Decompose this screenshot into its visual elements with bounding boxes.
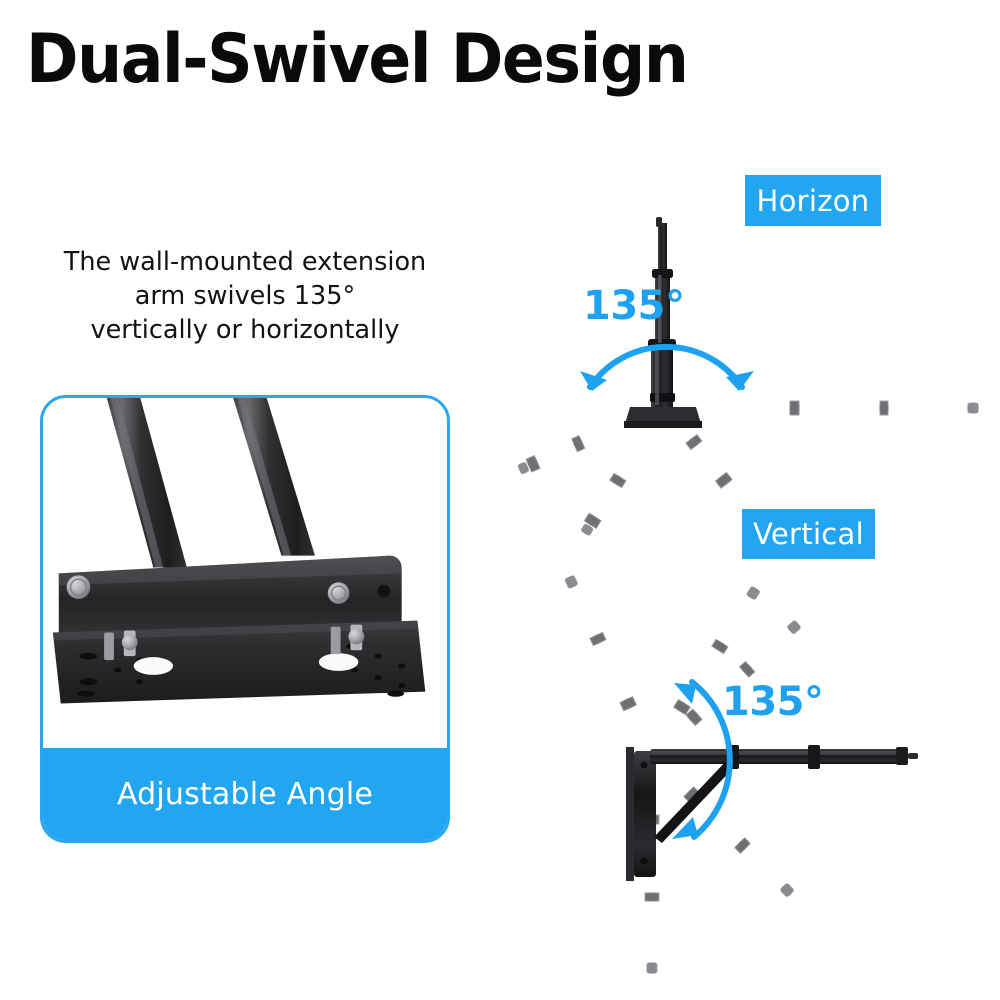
- vertical-angle-value: 135°: [722, 679, 824, 725]
- horizon-base-plate: [624, 407, 702, 428]
- bracket-tubes: [104, 398, 315, 567]
- vertical-wall-plate: [626, 747, 656, 881]
- product-photo-card: Adjustable Angle: [40, 395, 450, 843]
- vertical-ghost-arms: [563, 574, 803, 973]
- product-bracket-photo: [43, 398, 447, 758]
- description-line-1: The wall-mounted extension: [20, 246, 470, 280]
- description-text: The wall-mounted extension arm swivels 1…: [20, 246, 470, 348]
- horizon-angle-value: 135°: [583, 283, 685, 329]
- description-line-3: vertically or horizontally: [20, 314, 470, 348]
- adjustable-angle-banner: Adjustable Angle: [42, 748, 448, 841]
- vertical-swivel-diagram: [580, 565, 1000, 965]
- description-line-2: arm swivels 135°: [20, 280, 470, 314]
- bracket-main-bar: [59, 556, 402, 633]
- horizon-swivel-diagram: [480, 215, 1000, 445]
- vertical-label-badge: Vertical: [742, 509, 875, 559]
- page-title: Dual-Swivel Design: [26, 26, 687, 94]
